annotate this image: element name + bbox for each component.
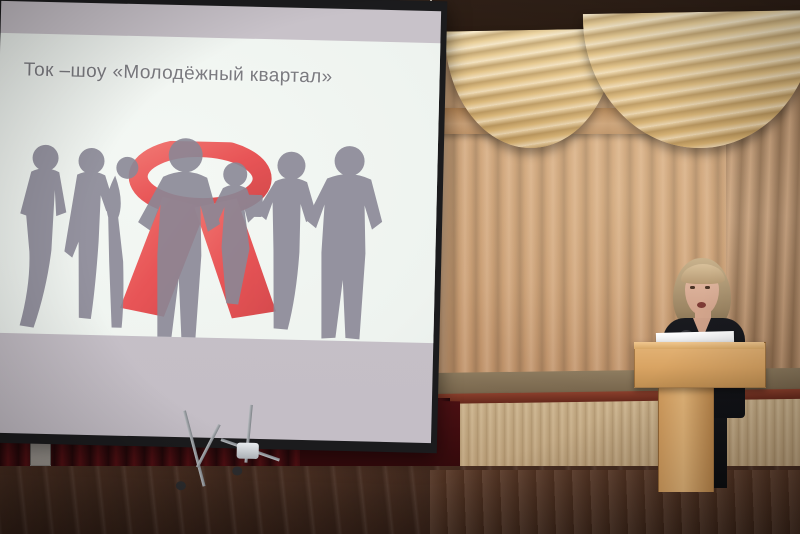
eye-left: [690, 286, 695, 289]
silhouette-figure-5: [208, 162, 263, 305]
silhouette-figure-4: [135, 137, 222, 340]
eye-right: [705, 286, 710, 289]
presentation-slide: Ток –шоу «Молодёжный квартал»: [0, 33, 440, 343]
slide-title: Ток –шоу «Молодёжный квартал»: [23, 59, 332, 88]
tripod-foot-right: [232, 466, 242, 475]
tripod-hub: [237, 443, 259, 460]
lectern-desk-edge: [634, 342, 764, 349]
silhouette-figure-1: [18, 144, 68, 328]
silhouette-figure-6: [254, 151, 318, 330]
tripod-brace: [196, 424, 221, 468]
projection-screen: Ток –шоу «Молодёжный квартал»: [0, 0, 447, 463]
silhouette-figure-7: [303, 145, 384, 340]
silhouette-figure-3: [104, 156, 139, 328]
lectern: [634, 342, 764, 492]
screen-tripod-stand: [188, 403, 320, 492]
silhouette-figure-2: [63, 147, 116, 319]
mouth: [697, 302, 706, 308]
youth-silhouettes: [0, 129, 438, 343]
lectern-column: [658, 386, 714, 492]
photo-scene: Ток –шоу «Молодёжный квартал»: [0, 0, 800, 534]
